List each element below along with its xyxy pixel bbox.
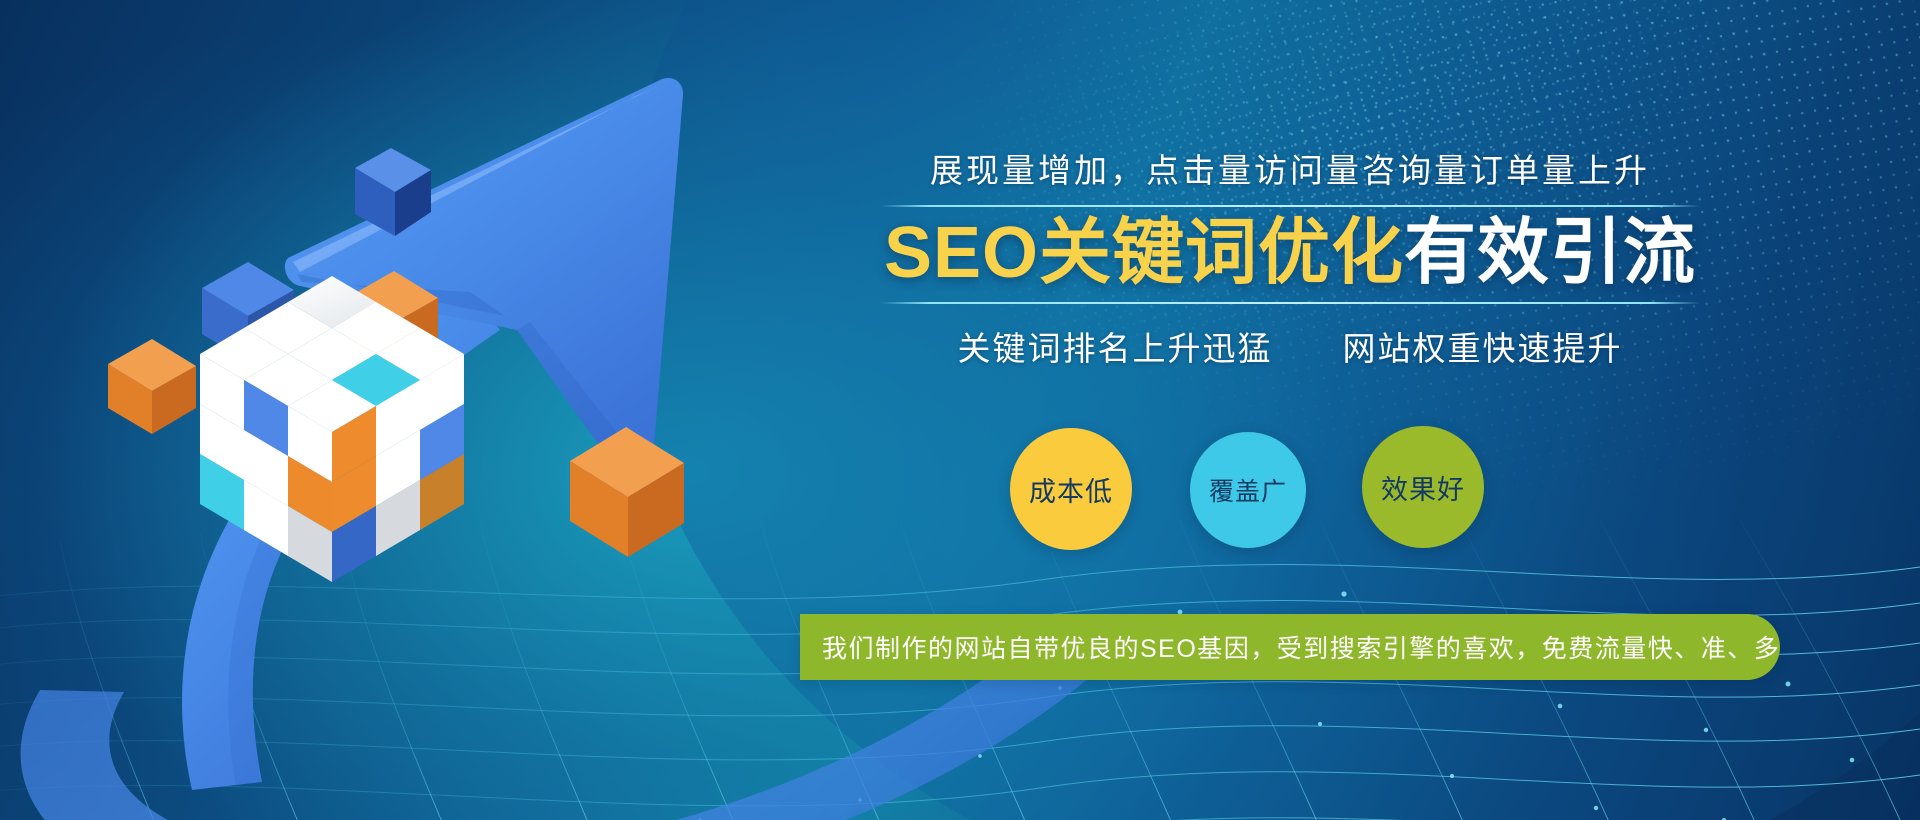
status-badge-cost[interactable]: 成本低: [1010, 428, 1132, 550]
seo-growth-illustration: [0, 0, 900, 820]
seo-promo-banner: 展现量增加，点击量访问量咨询量订单量上升 SEO关键词优化有效引流 关键词排名上…: [0, 0, 1920, 820]
upward-growth-arrow-icon: [182, 78, 683, 790]
floating-orange-cube-icon: [570, 427, 684, 557]
headline-highlight: SEO关键词优化: [884, 213, 1404, 293]
status-badge-effect[interactable]: 效果好: [1362, 426, 1484, 548]
floating-blue-cube-icon: [355, 148, 431, 236]
tagline: 展现量增加，点击量访问量咨询量订单量上升: [880, 150, 1700, 191]
cube-left-face: [200, 354, 332, 582]
feature-badges: 成本低 覆盖广 效果好: [1000, 418, 1560, 588]
cube-top-face: [200, 276, 464, 432]
page-title: SEO关键词优化有效引流: [880, 213, 1700, 294]
cube-right-face: [332, 354, 464, 582]
divider-bottom: [880, 302, 1700, 304]
footer-note-bar: 我们制作的网站自带优良的SEO基因，受到搜索引擎的喜欢，免费流量快、准、多: [800, 614, 1780, 680]
headline-block: 展现量增加，点击量访问量咨询量订单量上升 SEO关键词优化有效引流 关键词排名上…: [880, 150, 1700, 370]
divider-top: [880, 205, 1700, 207]
headline-rest: 有效引流: [1404, 213, 1696, 293]
footer-note-text: 我们制作的网站自带优良的SEO基因，受到搜索引擎的喜欢，免费流量快、准、多: [822, 629, 1780, 665]
subline: 关键词排名上升迅猛 网站权重快速提升: [880, 322, 1700, 370]
rubiks-cube-3d-icon: [108, 262, 464, 582]
status-badge-coverage[interactable]: 覆盖广: [1190, 432, 1306, 548]
background-glow: [620, 0, 1920, 820]
